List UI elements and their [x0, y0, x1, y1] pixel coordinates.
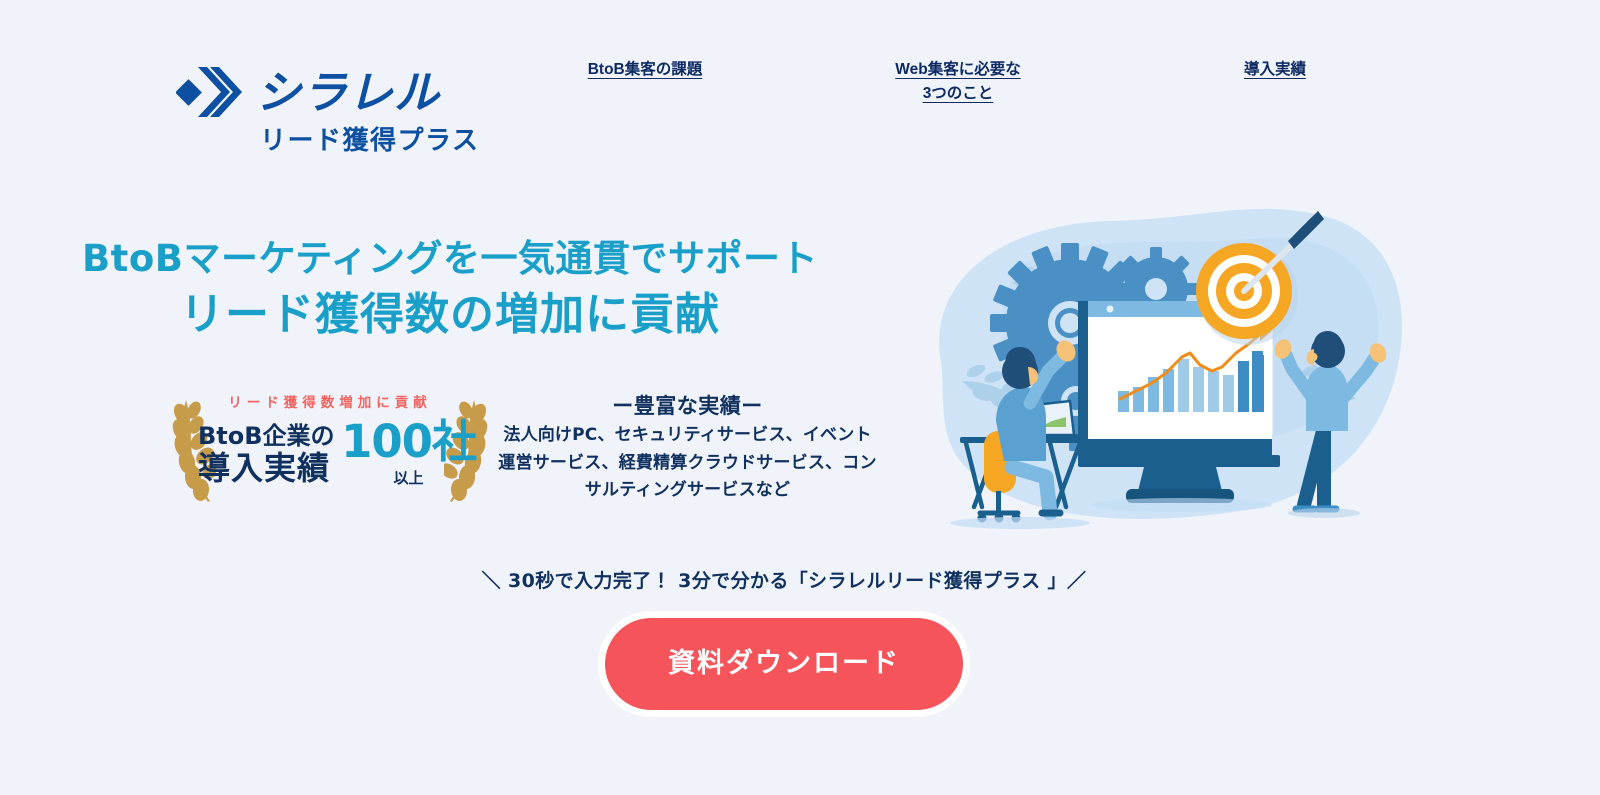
cta-lead-text: ＼ 30秒で入力完了！ 3分で分かる「シラレルリード獲得プラス 」／ — [0, 566, 1568, 593]
business-growth-illustration — [900, 205, 1410, 535]
achievement-badge: リード獲得数増加に貢献 BtoB企業の 導入実績 100社 以上 — [170, 392, 490, 510]
site-header: シラレル リード獲得プラス BtoB集客の課題 Web集客に必要な 3つのこと … — [0, 0, 1600, 180]
cta-section: ＼ 30秒で入力完了！ 3分で分かる「シラレルリード獲得プラス 」／ 資料ダウン… — [0, 566, 1568, 710]
proof-row: リード獲得数増加に貢献 BtoB企業の 導入実績 100社 以上 ー豊富な実績ー… — [0, 392, 900, 512]
nav-link-three-things[interactable]: Web集客に必要な 3つのこと — [868, 58, 1048, 106]
services-title: ー豊富な実績ー — [495, 392, 880, 420]
badge-lines: BtoB企業の 導入実績 — [198, 423, 358, 487]
shadow-left — [950, 517, 1090, 529]
badge-count-group: 100社 以上 — [341, 419, 476, 486]
services-block: ー豊富な実績ー 法人向けPC、セキュリティサービス、イベント運営サービス、経費精… — [495, 392, 880, 505]
badge-count-suffix: 以上 — [341, 471, 476, 486]
main-navigation: BtoB集客の課題 Web集客に必要な 3つのこと 導入実績 — [540, 58, 1340, 128]
landing-page: シラレル リード獲得プラス BtoB集客の課題 Web集客に必要な 3つのこと … — [0, 0, 1600, 795]
logo-wordmark: シラレル — [256, 70, 440, 115]
hero-text-block: BtoBマーケティングを一気通貫でサポート リード獲得数の増加に貢献 — [0, 236, 900, 345]
badge-kicker: リード獲得数増加に貢献 — [206, 392, 454, 411]
badge-line-2: 導入実績 — [198, 451, 358, 487]
logo-tagline: リード獲得プラス — [260, 128, 479, 154]
nav-link-btob-issues[interactable]: BtoB集客の課題 — [555, 58, 735, 82]
badge-content: リード獲得数増加に貢献 BtoB企業の 導入実績 100社 以上 — [206, 392, 454, 510]
headline-line-2: リード獲得数の増加に貢献 — [0, 285, 900, 344]
shadow-monitor — [1092, 498, 1272, 512]
badge-count: 100社 — [341, 419, 476, 464]
headline-line-1: BtoBマーケティングを一気通貫でサポート — [0, 236, 900, 281]
download-document-button[interactable]: 資料ダウンロード — [605, 618, 963, 710]
chevron-diamond-logo-icon — [176, 62, 242, 122]
brand-logo[interactable]: シラレル リード獲得プラス — [176, 62, 479, 154]
badge-line-1: BtoB企業の — [198, 423, 358, 451]
page-title: BtoBマーケティングを一気通貫でサポート リード獲得数の増加に貢献 — [0, 236, 900, 345]
logo-row: シラレル — [176, 62, 440, 122]
badge-body: BtoB企業の 導入実績 100社 以上 — [206, 411, 454, 497]
nav-link-case-studies[interactable]: 導入実績 — [1185, 58, 1365, 82]
services-body: 法人向けPC、セキュリティサービス、イベント運営サービス、経費精算クラウドサービ… — [495, 422, 880, 505]
